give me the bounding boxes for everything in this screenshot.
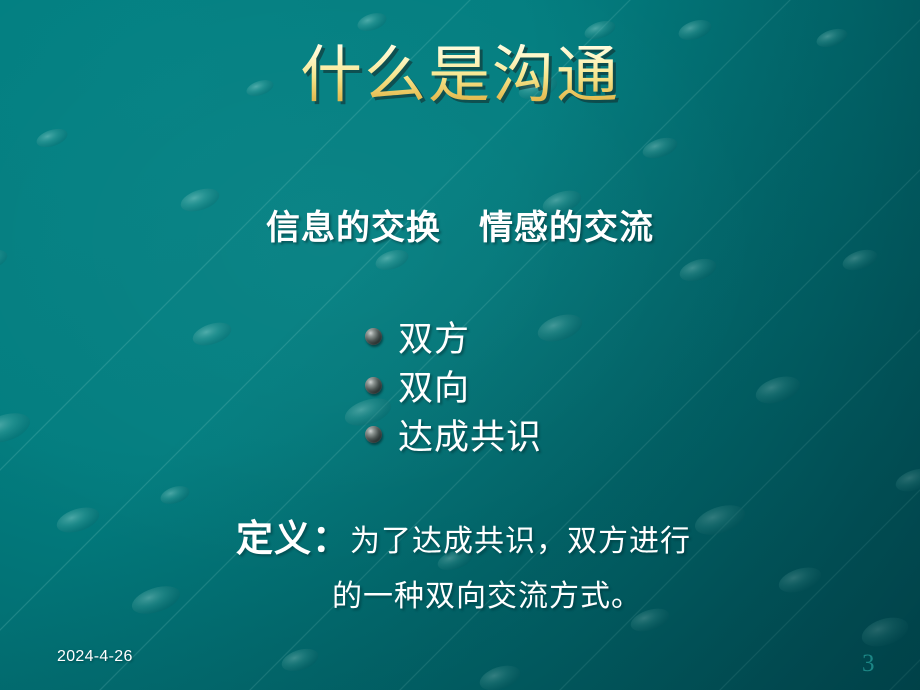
definition-label: 定义： [236,508,350,562]
slide-title: 什么是沟通 [300,44,620,110]
definition-first-line: 定义： 为了达成共识，双方进行 [236,508,876,562]
definition-second-line: 的一种双向交流方式。 [236,571,876,615]
definition-text-line-2: 的一种双向交流方式。 [332,580,642,613]
definition-text-line-1: 为了达成共识，双方进行 [350,516,691,560]
sphere-bullet-icon [365,426,382,443]
bullet-list: 双方 双向 达成共识 [365,312,785,459]
list-item: 双向 [365,361,785,410]
bullet-item-label: 双向 [398,360,470,411]
list-item: 双方 [365,312,785,361]
list-item: 达成共识 [365,410,785,459]
slide-page-number: 3 [862,650,875,678]
definition-block: 定义： 为了达成共识，双方进行 的一种双向交流方式。 [236,508,876,615]
presentation-slide: 什么是沟通 信息的交换 情感的交流 双方 双向 达成共识 定义： 为了达成共识，… [0,0,920,690]
bullet-item-label: 双方 [398,311,470,362]
slide-date: 2024-4-26 [57,648,133,666]
slide-subtitle: 信息的交换 情感的交流 [266,200,654,249]
sphere-bullet-icon [365,377,382,394]
sphere-bullet-icon [365,328,382,345]
slide-title-container: 什么是沟通 [0,44,920,110]
bullet-item-label: 达成共识 [398,409,542,460]
slide-subtitle-container: 信息的交换 情感的交流 [0,200,920,249]
